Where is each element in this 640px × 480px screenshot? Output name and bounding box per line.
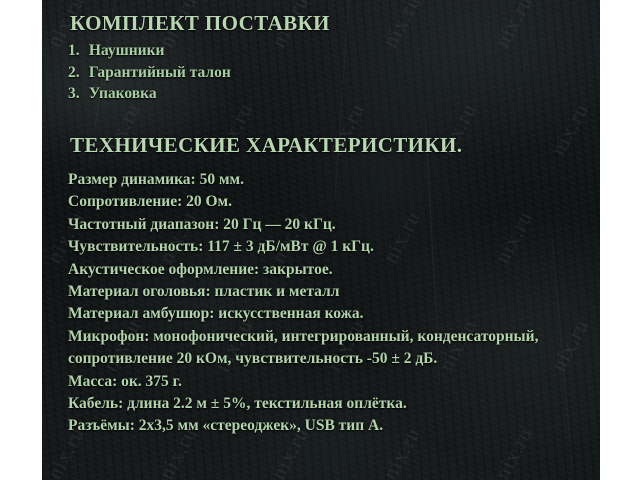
kit-list-item: 3. Упаковка <box>68 83 231 105</box>
kit-item-number: 3. <box>68 83 85 105</box>
spec-line: Сопротивление: 20 Ом. <box>68 191 588 213</box>
spec-line: Кабель: длина 2.2 м ± 5%, текстильная оп… <box>68 393 588 415</box>
spec-line: Акустическое оформление: закрытое. <box>68 259 588 281</box>
kit-item-label: Упаковка <box>85 85 157 102</box>
page-root: nix.runix.runix.runix.runix.runix.runix.… <box>0 0 640 480</box>
spec-line: Микрофон: монофонический, интегрированны… <box>68 326 588 371</box>
spec-line: Чувствительность: 117 ± 3 дБ/мВт @ 1 кГц… <box>68 236 588 258</box>
kit-list-item: 1. Наушники <box>68 40 231 62</box>
kit-item-number: 1. <box>68 40 85 62</box>
spec-list: Размер динамика: 50 мм.Сопротивление: 20… <box>68 169 588 438</box>
kit-item-label: Наушники <box>85 42 164 59</box>
spec-line: Частотный диапазон: 20 Гц — 20 кГц. <box>68 214 588 236</box>
spec-line: Разъёмы: 2x3,5 мм «стереоджек», USB тип … <box>68 415 588 437</box>
kit-item-number: 2. <box>68 62 85 84</box>
spec-line: Материал амбушюр: искусственная кожа. <box>68 303 588 325</box>
kit-list: 1. Наушники2. Гарантийный талон3. Упаков… <box>68 40 231 105</box>
kit-list-item: 2. Гарантийный талон <box>68 62 231 84</box>
spec-line: Материал оголовья: пластик и металл <box>68 281 588 303</box>
spec-line: Масса: ок. 375 г. <box>68 371 588 393</box>
panel-content: КОМПЛЕКТ ПОСТАВКИ 1. Наушники2. Гарантий… <box>42 0 600 480</box>
kit-heading: КОМПЛЕКТ ПОСТАВКИ <box>70 11 330 36</box>
spec-panel: nix.runix.runix.runix.runix.runix.runix.… <box>42 0 600 480</box>
kit-item-label: Гарантийный талон <box>85 64 231 81</box>
spec-line: Размер динамика: 50 мм. <box>68 169 588 191</box>
specs-heading: ТЕХНИЧЕСКИЕ ХАРАКТЕРИСТИКИ. <box>70 133 462 158</box>
